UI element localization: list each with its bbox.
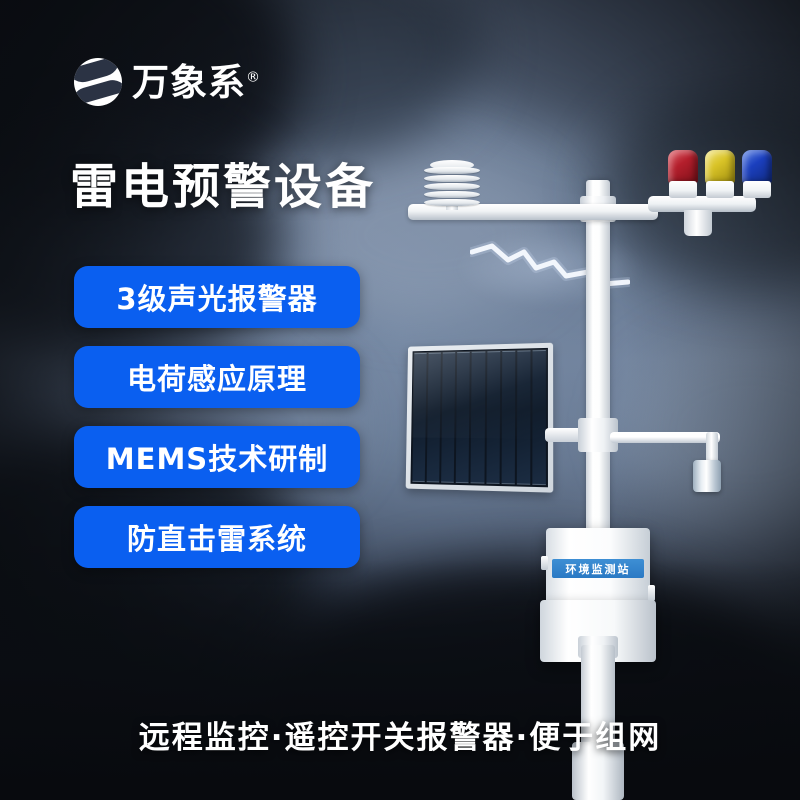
feature-pill-1[interactable]: 3级声光报警器 — [74, 266, 360, 328]
footer-tagline: 远程监控·遥控开关报警器·便于组网 — [0, 712, 800, 757]
product-poster: 环境监测站 万象系® 雷电预警设备 3级声光报警器 电荷感应原理 MEMS技术研… — [0, 0, 800, 800]
feature-pill-2[interactable]: 电荷感应原理 — [74, 346, 360, 408]
brand-logo: 万象系® — [74, 58, 261, 106]
swoosh-circle-logo-icon — [74, 58, 122, 106]
feature-pill-4[interactable]: 防直击雷系统 — [74, 506, 360, 568]
brand-name: 万象系® — [132, 64, 261, 101]
feature-pill-list: 3级声光报警器 电荷感应原理 MEMS技术研制 防直击雷系统 — [74, 266, 360, 568]
registered-mark: ® — [246, 69, 261, 85]
feature-pill-3[interactable]: MEMS技术研制 — [74, 426, 360, 488]
bottom-dark-gradient — [0, 560, 800, 800]
page-title: 雷电预警设备 — [70, 163, 376, 211]
brand-name-text: 万象系 — [132, 61, 246, 104]
